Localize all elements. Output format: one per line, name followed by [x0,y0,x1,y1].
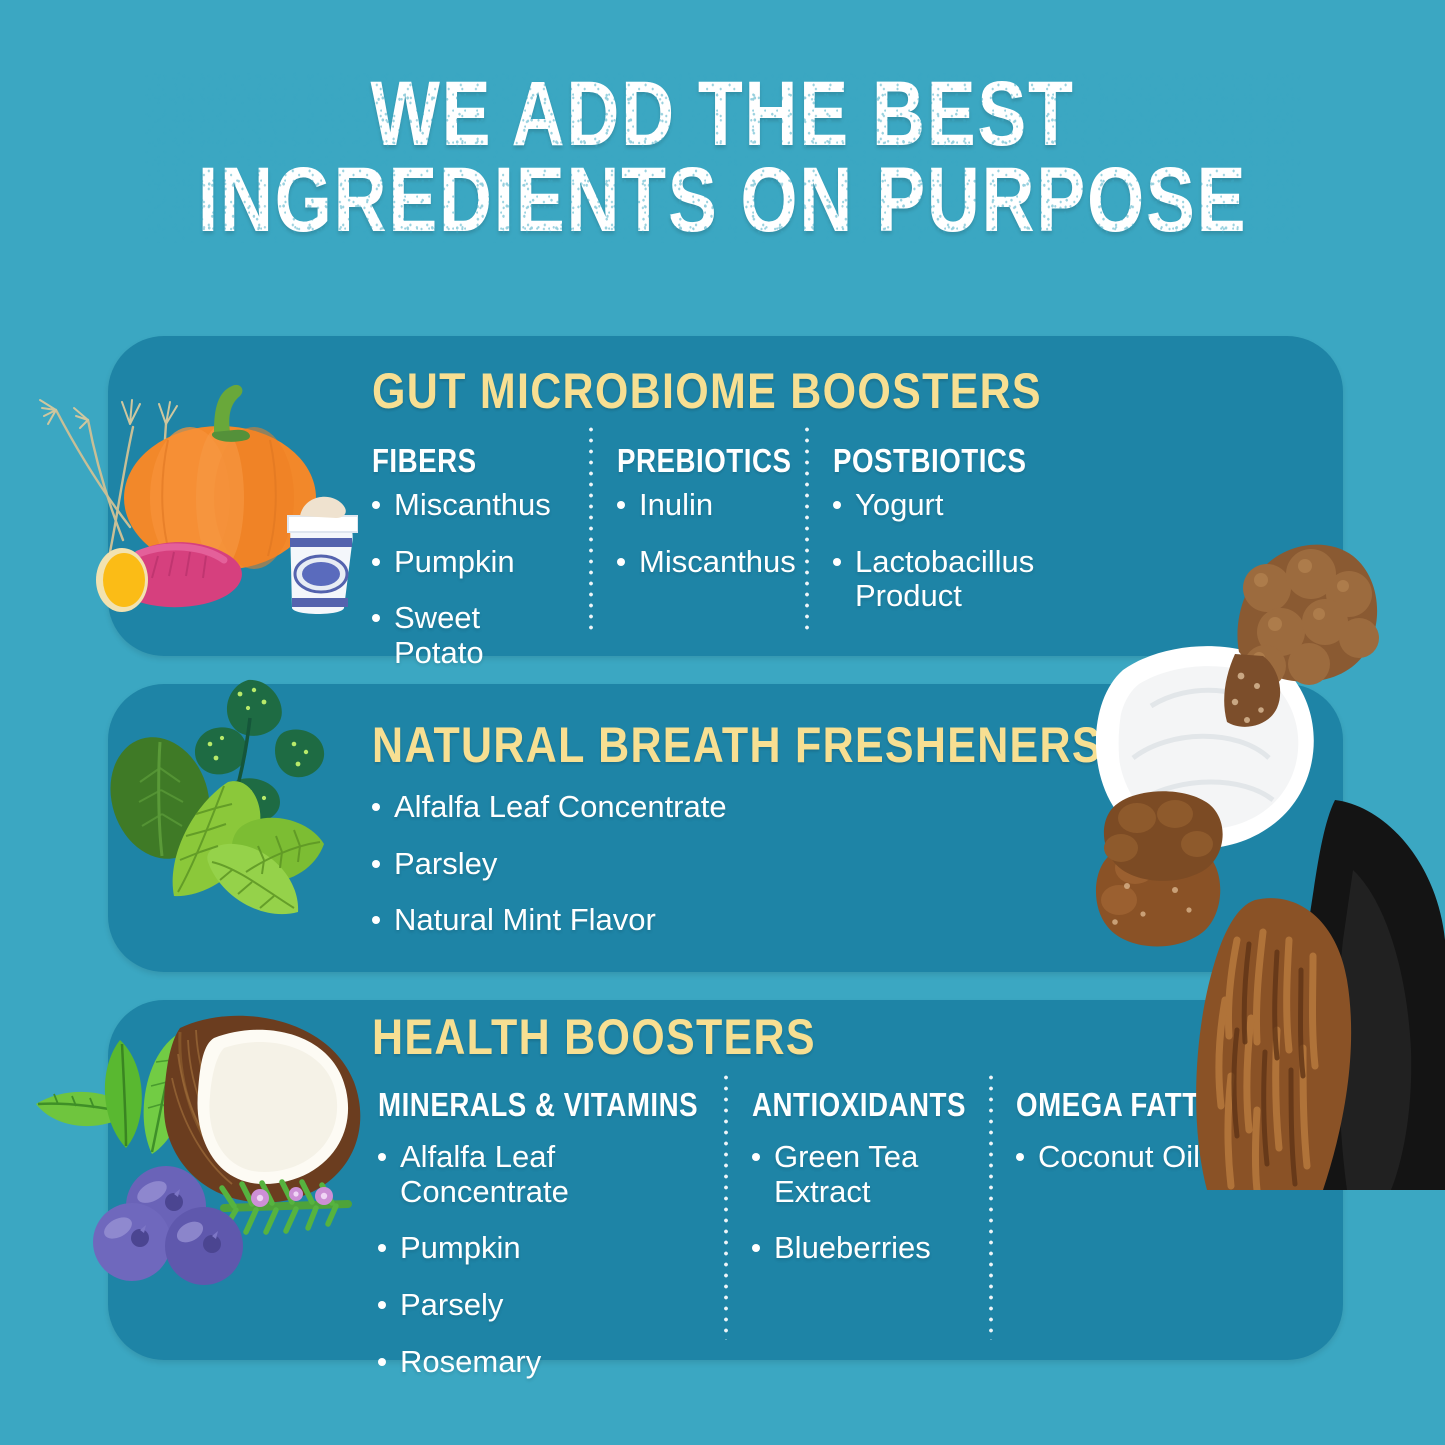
section-heading-health-boosters: HEALTH BOOSTERS [372,1008,816,1066]
list-postbiotics: Yogurt Lactobacillus Product [833,488,1048,636]
list-item: Pumpkin [372,545,572,580]
column-title-minerals-vitamins: MINERALS & VITAMINS [378,1086,698,1124]
list-fibers: Miscanthus Pumpkin Sweet Potato [372,488,572,693]
list-item: Parsley [372,847,852,882]
list-item: Miscanthus [372,488,572,523]
column-title-prebiotics: PREBIOTICS [617,442,791,480]
column-title-omega-fatty-acids: OMEGA FATTY ACIDS [1016,1086,1314,1124]
page-title-line-1: WE ADD THE BEST [145,72,1301,158]
list-minerals-vitamins: Alfalfa Leaf Concentrate Pumpkin Parsely… [378,1140,708,1402]
column-divider [589,424,593,636]
list-item: Sweet Potato [372,601,572,670]
list-antioxidants: Green Tea Extract Blueberries [752,1140,922,1288]
list-item: Inulin [617,488,807,523]
list-item: Natural Mint Flavor [372,903,852,938]
column-title-antioxidants: ANTIOXIDANTS [752,1086,966,1124]
page-title-line-2: INGREDIENTS ON PURPOSE [145,158,1301,244]
column-title-postbiotics: POSTBIOTICS [833,442,1026,480]
list-omega-fatty-acids: Coconut Oil [1016,1140,1276,1197]
list-item: Alfalfa Leaf Concentrate [378,1140,708,1209]
section-heading-gut-microbiome-boosters: GUT MICROBIOME BOOSTERS [372,362,1042,420]
column-title-fibers: FIBERS [372,442,477,480]
list-item: Blueberries [752,1231,922,1266]
list-prebiotics: Inulin Miscanthus [617,488,807,601]
page-title: WE ADD THE BEST INGREDIENTS ON PURPOSE [0,72,1445,243]
list-item: Coconut Oil [1016,1140,1276,1175]
list-item: Pumpkin [378,1231,708,1266]
list-item: Rosemary [378,1345,708,1380]
column-divider [989,1072,993,1340]
list-item: Yogurt [833,488,1048,523]
list-item: Miscanthus [617,545,807,580]
list-item: Green Tea Extract [752,1140,922,1209]
list-natural-breath-fresheners: Alfalfa Leaf Concentrate Parsley Natural… [372,790,852,960]
column-divider [724,1072,728,1340]
list-item: Parsely [378,1288,708,1323]
section-heading-natural-breath-fresheners: NATURAL BREATH FRESHENERS [372,716,1102,774]
column-divider [805,424,809,636]
list-item: Alfalfa Leaf Concentrate [372,790,852,825]
list-item: Lactobacillus Product [833,545,1048,614]
